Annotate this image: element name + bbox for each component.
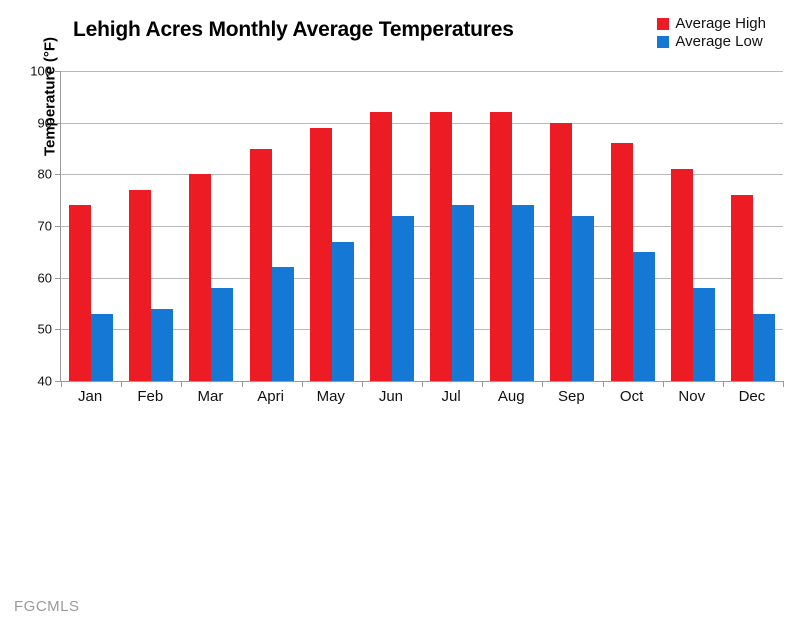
y-tick-label: 50 [38,322,52,337]
y-tick-mark [55,71,61,72]
x-tick-label: Jun [379,388,403,405]
legend-swatch-icon [657,36,669,48]
x-tick-mark [61,381,62,387]
bar-high[interactable] [550,123,572,381]
bar-group [731,71,775,381]
x-tick-label: Jan [78,388,102,405]
y-tick-label: 80 [38,167,52,182]
y-tick-label: 100 [30,64,52,79]
bar-high[interactable] [490,112,512,381]
x-tick-label: Mar [197,388,223,405]
bar-group [430,71,474,381]
bar-high[interactable] [310,128,332,381]
bar-high[interactable] [129,190,151,381]
x-tick-mark [482,381,483,387]
bar-group [370,71,414,381]
bar-low[interactable] [91,314,113,381]
x-tick-label: Dec [739,388,766,405]
bar-group [490,71,534,381]
bar-high[interactable] [731,195,753,381]
legend-item[interactable]: Average High [657,16,766,31]
bar-low[interactable] [272,267,294,381]
chart-legend: Average HighAverage Low [657,16,766,49]
bar-high[interactable] [671,169,693,381]
y-tick-mark [55,226,61,227]
bar-group [250,71,294,381]
x-tick-label: May [317,388,345,405]
legend-label: Average Low [675,34,762,49]
bar-low[interactable] [211,288,233,381]
y-axis-title: Temperature (°F) [42,7,59,187]
x-tick-mark [663,381,664,387]
bar-group [189,71,233,381]
bar-group [550,71,594,381]
watermark: FGCMLS [14,598,80,615]
x-tick-label: Oct [620,388,643,405]
bar-high[interactable] [69,205,91,381]
x-tick-mark [242,381,243,387]
bar-high[interactable] [430,112,452,381]
bar-low[interactable] [753,314,775,381]
legend-swatch-icon [657,18,669,30]
x-tick-mark [783,381,784,387]
x-tick-label: Nov [678,388,705,405]
bar-group [129,71,173,381]
bar-low[interactable] [392,216,414,381]
bar-high[interactable] [611,143,633,381]
x-tick-mark [542,381,543,387]
x-tick-mark [723,381,724,387]
legend-item[interactable]: Average Low [657,34,762,49]
legend-label: Average High [675,16,766,31]
x-tick-mark [302,381,303,387]
bar-high[interactable] [189,174,211,381]
bar-group [310,71,354,381]
x-tick-mark [121,381,122,387]
bar-low[interactable] [693,288,715,381]
bar-group [671,71,715,381]
x-tick-mark [603,381,604,387]
y-tick-mark [55,329,61,330]
bar-low[interactable] [572,216,594,381]
bar-high[interactable] [370,112,392,381]
x-tick-label: Sep [558,388,585,405]
y-tick-label: 90 [38,115,52,130]
y-tick-label: 60 [38,270,52,285]
x-tick-label: Apri [257,388,284,405]
bar-group [69,71,113,381]
chart-title: Lehigh Acres Monthly Average Temperature… [73,18,514,42]
x-tick-label: Jul [441,388,460,405]
y-tick-mark [55,123,61,124]
x-tick-label: Feb [137,388,163,405]
bar-group [611,71,655,381]
bar-low[interactable] [633,252,655,381]
y-tick-mark [55,174,61,175]
x-tick-mark [181,381,182,387]
x-tick-mark [422,381,423,387]
bar-high[interactable] [250,149,272,382]
x-tick-label: Aug [498,388,525,405]
bar-low[interactable] [151,309,173,381]
y-tick-label: 70 [38,219,52,234]
y-tick-label: 40 [38,374,52,389]
x-tick-mark [362,381,363,387]
bar-low[interactable] [452,205,474,381]
plot-area: 405060708090100 [60,71,783,381]
y-tick-mark [55,278,61,279]
bar-low[interactable] [332,242,354,382]
bar-low[interactable] [512,205,534,381]
